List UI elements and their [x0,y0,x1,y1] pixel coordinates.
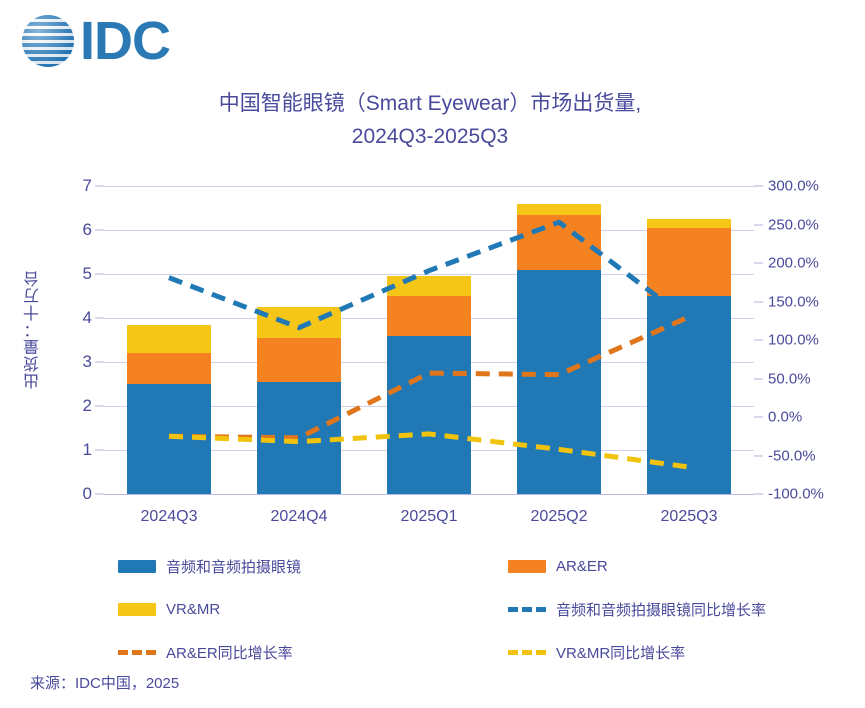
y2-tick-mark [754,378,763,379]
legend-item[interactable]: AR&ER [508,558,818,575]
y2-tick-mark [754,301,763,302]
idc-logo-text: IDC [80,14,170,68]
y-tick-label: 3 [83,352,92,372]
legend-item[interactable]: 音频和音频拍摄眼镜同比增长率 [508,599,818,620]
legend-item[interactable]: AR&ER同比增长率 [118,642,508,663]
y-tick-mark [95,406,104,407]
y2-tick-label: -100.0% [768,486,824,503]
y2-tick-label: -50.0% [768,447,816,464]
y-tick-mark [95,274,104,275]
y-tick-label: 4 [83,308,92,328]
y2-tick-label: 50.0% [768,370,811,387]
chart-legend: 音频和音频拍摄眼镜AR&ERVR&MR音频和音频拍摄眼镜同比增长率AR&ER同比… [118,545,818,674]
legend-item[interactable]: VR&MR [118,601,508,618]
legend-dash-icon [508,650,546,655]
bar-segment[interactable] [647,296,731,494]
y-tick-label: 6 [83,220,92,240]
y2-tick-label: 300.0% [768,178,819,195]
y2-tick-mark [754,340,763,341]
y2-tick-mark [754,186,763,187]
y-tick-label: 5 [83,264,92,284]
bar-group[interactable] [257,186,341,494]
legend-label: 音频和音频拍摄眼镜同比增长率 [556,599,766,620]
y-tick-mark [95,318,104,319]
x-axis-tick-label: 2024Q3 [141,494,198,526]
source-note: 来源：IDC中国，2025 [30,672,179,693]
bar-group[interactable] [517,186,601,494]
y2-tick-label: 200.0% [768,255,819,272]
y2-tick-mark [754,263,763,264]
plot-area: 01234567 -100.0%-50.0%0.0%50.0%100.0%150… [104,186,754,494]
bar-segment[interactable] [127,325,211,354]
legend-label: VR&MR同比增长率 [556,642,685,663]
idc-logo: IDC [22,14,170,68]
y-tick-label: 2 [83,396,92,416]
legend-item[interactable]: VR&MR同比增长率 [508,642,818,663]
x-axis-tick-label: 2025Q1 [401,494,458,526]
bar-segment[interactable] [517,204,601,215]
bar-segment[interactable] [517,215,601,270]
legend-label: 音频和音频拍摄眼镜 [166,556,301,577]
y-tick-label: 7 [83,176,92,196]
legend-label: AR&ER [556,558,608,575]
y-tick-label: 0 [83,484,92,504]
y2-tick-mark [754,494,763,495]
y-tick-mark [95,450,104,451]
bar-segment[interactable] [127,384,211,494]
bar-group[interactable] [387,186,471,494]
y2-tick-mark [754,455,763,456]
y2-tick-mark [754,417,763,418]
bar-segment[interactable] [387,336,471,494]
legend-item[interactable]: 音频和音频拍摄眼镜 [118,556,508,577]
y-axis-label: 出货量：十万台 [22,270,46,389]
legend-color-swatch [118,560,156,573]
legend-color-swatch [118,603,156,616]
y2-tick-mark [754,224,763,225]
y-tick-mark [95,230,104,231]
bar-group[interactable] [647,186,731,494]
y-tick-label: 1 [83,440,92,460]
chart-title: 中国智能眼镜（Smart Eyewear）市场出货量, 2024Q3-2025Q… [70,88,790,153]
y2-tick-label: 250.0% [768,216,819,233]
bar-segment[interactable] [387,276,471,296]
legend-label: AR&ER同比增长率 [166,642,293,663]
bar-segment[interactable] [517,270,601,494]
bar-segment[interactable] [387,296,471,336]
y-tick-mark [95,362,104,363]
legend-label: VR&MR [166,601,220,618]
y2-tick-label: 150.0% [768,293,819,310]
y-tick-mark [95,186,104,187]
legend-dash-icon [508,607,546,612]
bar-segment[interactable] [257,382,341,494]
bar-segment[interactable] [257,307,341,338]
legend-dash-icon [118,650,156,655]
x-axis-tick-label: 2025Q2 [531,494,588,526]
y-tick-mark [95,494,104,495]
y2-tick-label: 0.0% [768,409,802,426]
legend-color-swatch [508,560,546,573]
chart-title-line1: 中国智能眼镜（Smart Eyewear）市场出货量, [70,88,790,121]
idc-globe-icon [22,15,74,67]
bar-group[interactable] [127,186,211,494]
bar-segment[interactable] [257,338,341,382]
chart-title-line2: 2024Q3-2025Q3 [70,121,790,154]
x-axis-tick-label: 2025Q3 [661,494,718,526]
bar-segment[interactable] [127,353,211,384]
bar-segment[interactable] [647,228,731,296]
bar-segment[interactable] [647,219,731,228]
x-axis-tick-label: 2024Q4 [271,494,328,526]
y2-tick-label: 100.0% [768,332,819,349]
